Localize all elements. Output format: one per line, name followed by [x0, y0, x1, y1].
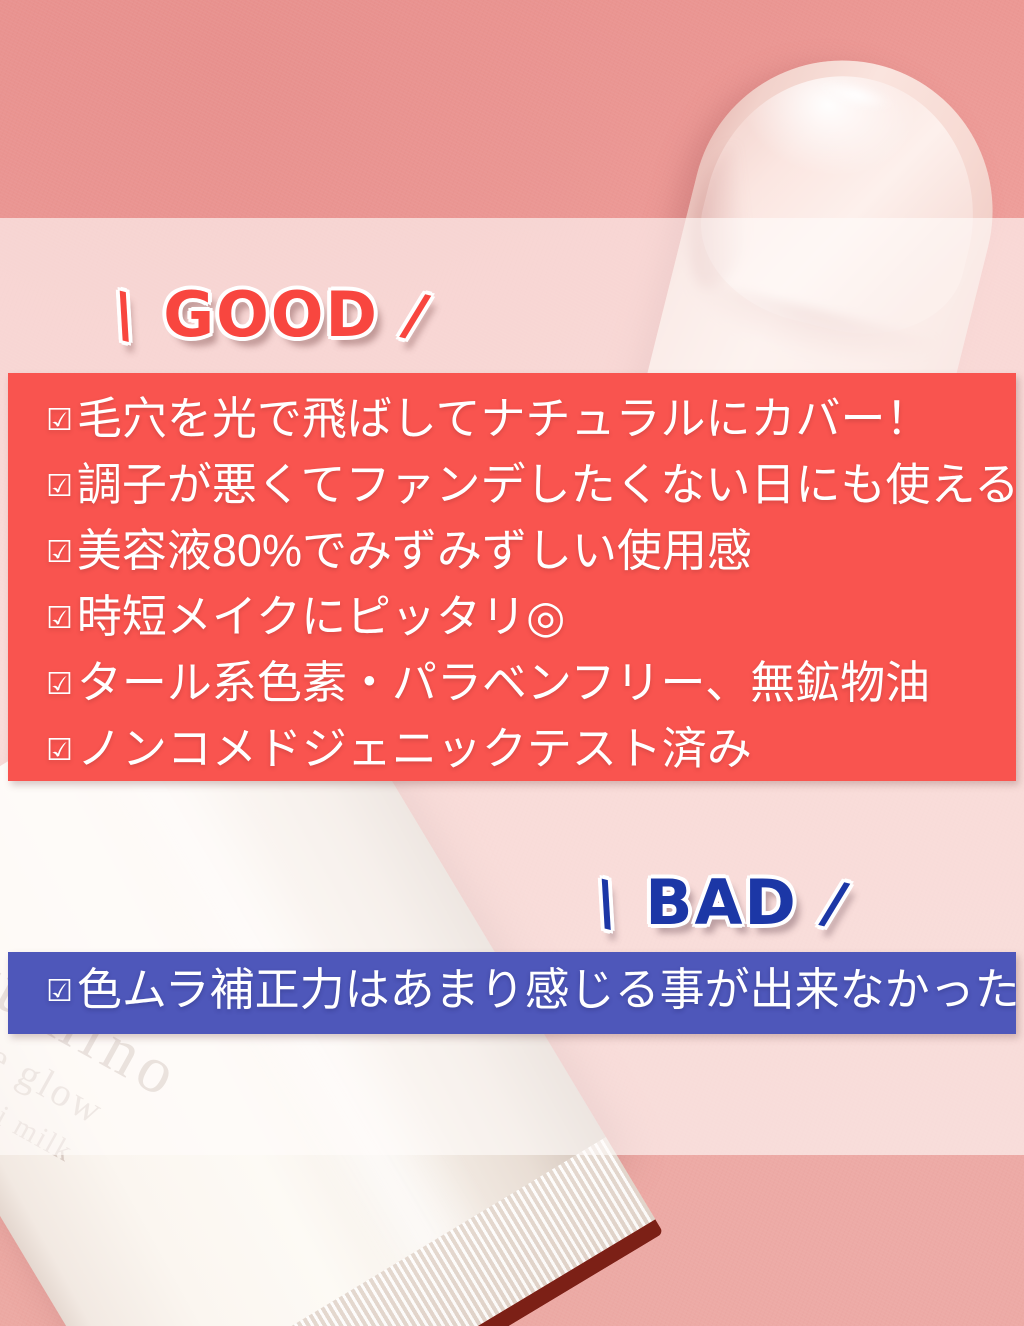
- list-item-label: 毛穴を光で飛ばしてナチュラルにカバー！: [77, 389, 931, 449]
- list-item: ☑ 毛穴を光で飛ばしてナチュラルにカバー！: [46, 389, 1016, 455]
- list-item-label: 色ムラ補正力はあまり感じる事が出来なかった: [77, 962, 1020, 1018]
- checked-box-icon: ☑: [46, 655, 73, 715]
- bad-headline-label: BAD: [645, 866, 798, 939]
- good-headline: \ GOOD /: [114, 278, 428, 351]
- bad-points-panel: ☑ 色ムラ補正力はあまり感じる事が出来なかった: [8, 952, 1016, 1034]
- slide-canvas: urumino pure glow oshiroi milk \ GOOD / …: [0, 0, 1024, 1326]
- checked-box-icon: ☑: [46, 721, 73, 781]
- checked-box-icon: ☑: [46, 589, 73, 649]
- list-item: ☑ 色ムラ補正力はあまり感じる事が出来なかった: [46, 962, 1020, 1024]
- bad-headline: \ BAD /: [596, 866, 847, 939]
- list-item: ☑ 時短メイクにピッタリ◎: [46, 587, 1016, 653]
- good-points-panel: ☑ 毛穴を光で飛ばしてナチュラルにカバー！ ☑ 調子が悪くてファンデしたくない日…: [8, 373, 1016, 781]
- list-item: ☑ タール系色素・パラベンフリー、無鉱物油: [46, 653, 1016, 719]
- list-item-label: 時短メイクにピッタリ◎: [77, 587, 565, 647]
- list-item-label: タール系色素・パラベンフリー、無鉱物油: [77, 653, 930, 713]
- checked-box-icon: ☑: [46, 457, 73, 517]
- checked-box-icon: ☑: [46, 523, 73, 583]
- list-item: ☑ 調子が悪くてファンデしたくない日にも使える: [46, 455, 1016, 521]
- checked-box-icon: ☑: [46, 964, 73, 1020]
- list-item-label: 美容液80%でみずみずしい使用感: [77, 521, 752, 581]
- list-item-label: 調子が悪くてファンデしたくない日にも使える: [77, 455, 1019, 515]
- list-item: ☑ ノンコメドジェニックテスト済み: [46, 719, 1016, 785]
- list-item-label: ノンコメドジェニックテスト済み: [77, 719, 752, 779]
- checked-box-icon: ☑: [46, 391, 73, 451]
- good-headline-label: GOOD: [163, 278, 379, 351]
- list-item: ☑ 美容液80%でみずみずしい使用感: [46, 521, 1016, 587]
